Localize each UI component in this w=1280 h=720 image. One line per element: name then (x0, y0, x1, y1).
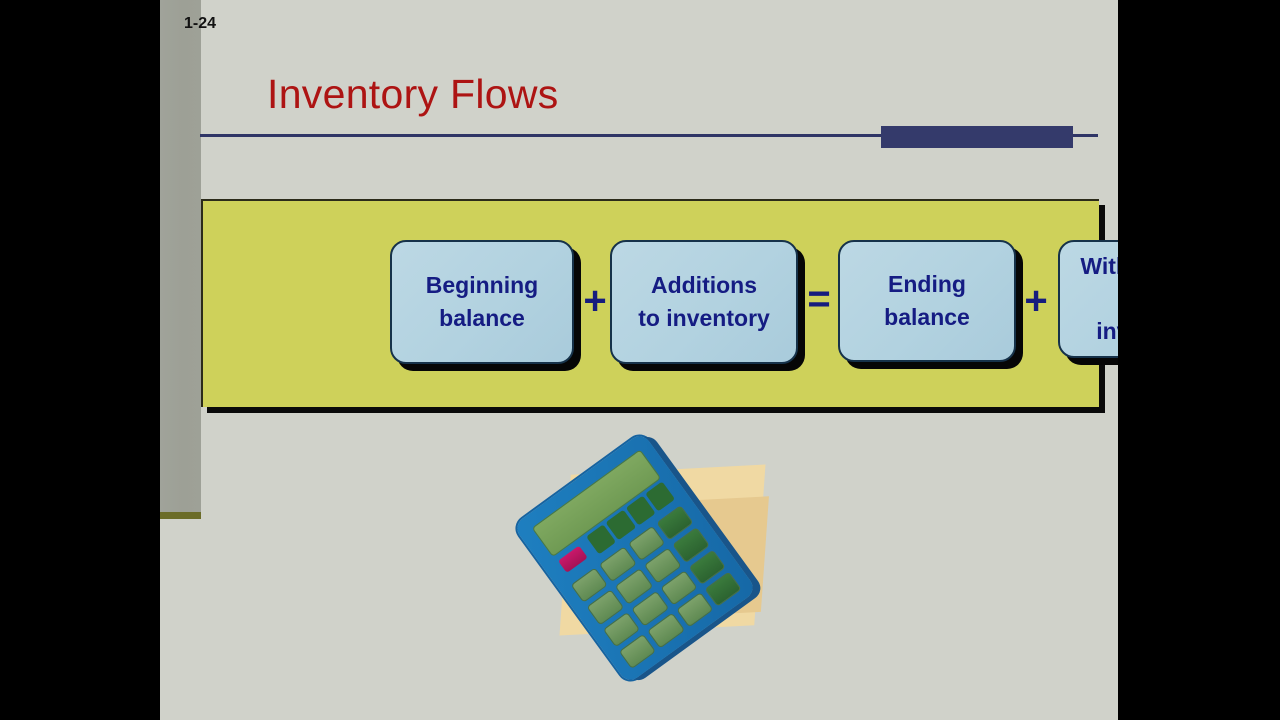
equation-box-additions-to-inventory: Additions to inventory (610, 240, 798, 364)
operator-plus-2: + (1020, 281, 1052, 321)
operator-equals: = (802, 279, 836, 319)
presentation-slide: 1-24 Inventory Flows Beginning balance +… (160, 0, 1118, 720)
header-accent-block (881, 126, 1073, 148)
box-label: Beginning balance (418, 269, 546, 334)
box-surface: Additions to inventory (610, 240, 798, 364)
page-title: Inventory Flows (267, 71, 559, 118)
box-surface: Ending balance (838, 240, 1016, 362)
box-label: Additions to inventory (630, 269, 778, 334)
calculator-illustration (535, 455, 815, 665)
screenshot-stage: 1-24 Inventory Flows Beginning balance +… (0, 0, 1280, 720)
box-label: Ending balance (876, 268, 978, 333)
equation-box-ending-balance: Ending balance (838, 240, 1016, 362)
box-label: Withdrawals from inventory (1072, 250, 1118, 348)
equation-box-withdrawals-from-inventory: Withdrawals from inventory (1058, 240, 1118, 358)
operator-plus-1: + (579, 281, 611, 321)
slide-left-accent-strip (160, 0, 201, 512)
inventory-flow-equation: Beginning balance + Additions to invento… (201, 199, 1118, 407)
box-surface: Beginning balance (390, 240, 574, 364)
slide-number: 1-24 (184, 15, 216, 33)
equation-box-beginning-balance: Beginning balance (390, 240, 574, 364)
slide-left-accent-strip-foot (160, 512, 201, 519)
box-surface: Withdrawals from inventory (1058, 240, 1118, 358)
